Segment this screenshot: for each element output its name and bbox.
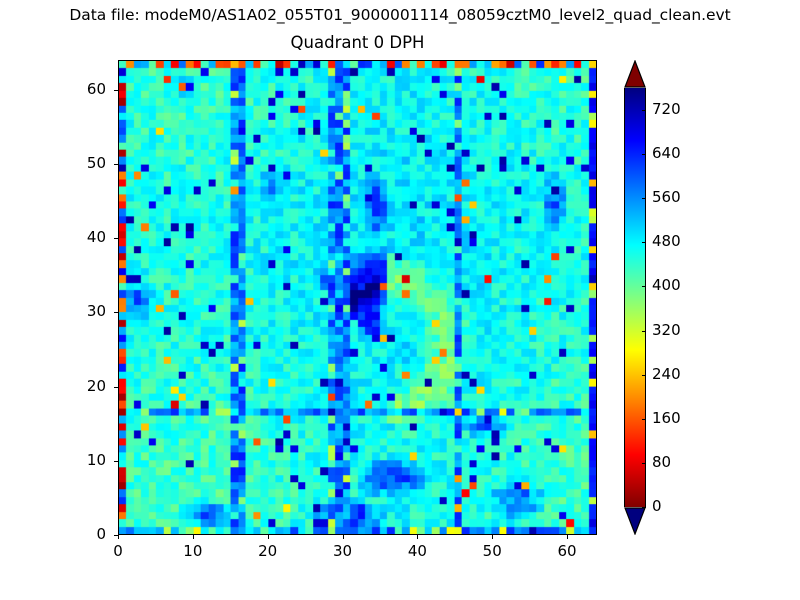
y-tick-label: 30 xyxy=(46,302,106,320)
colorbar-extend-top-arrow-icon xyxy=(624,60,646,88)
y-tick-mark xyxy=(114,90,118,91)
colorbar-tick-mark xyxy=(642,242,646,243)
figure-canvas: Data file: modeM0/AS1A02_055T01_90000011… xyxy=(0,0,800,600)
axes-title: Quadrant 0 DPH xyxy=(118,33,597,52)
y-tick-label: 0 xyxy=(46,525,106,543)
colorbar-tick-label: 320 xyxy=(652,321,681,339)
colorbar-tick-mark xyxy=(642,375,646,376)
y-tick-mark xyxy=(114,312,118,313)
x-tick-label: 40 xyxy=(387,542,447,560)
colorbar-tick-label: 480 xyxy=(652,232,681,250)
colorbar-tick-mark xyxy=(642,419,646,420)
y-tick-label: 40 xyxy=(46,228,106,246)
x-tick-label: 60 xyxy=(537,542,597,560)
colorbar-tick-label: 400 xyxy=(652,276,681,294)
figure-suptitle: Data file: modeM0/AS1A02_055T01_90000011… xyxy=(0,6,800,24)
heatmap-axes xyxy=(118,60,597,535)
colorbar-tick-label: 80 xyxy=(652,453,671,471)
y-tick-label: 50 xyxy=(46,154,106,172)
colorbar-tick-label: 160 xyxy=(652,409,681,427)
colorbar-tick-mark xyxy=(642,463,646,464)
x-tick-label: 0 xyxy=(88,542,148,560)
x-tick-mark xyxy=(417,535,418,539)
x-tick-mark xyxy=(492,535,493,539)
y-tick-mark xyxy=(114,164,118,165)
colorbar-gradient xyxy=(625,88,645,507)
colorbar-tick-mark xyxy=(642,198,646,199)
colorbar-tick-mark xyxy=(642,507,646,508)
colorbar-tick-mark xyxy=(642,331,646,332)
y-tick-label: 10 xyxy=(46,451,106,469)
y-tick-mark xyxy=(114,387,118,388)
x-tick-label: 30 xyxy=(313,542,373,560)
heatmap-image xyxy=(119,61,596,534)
colorbar-gradient-body xyxy=(624,88,646,507)
y-tick-mark xyxy=(114,535,118,536)
y-tick-label: 20 xyxy=(46,377,106,395)
colorbar-tick-mark xyxy=(642,286,646,287)
colorbar: 080160240320400480560640720 xyxy=(624,60,646,535)
colorbar-tick-label: 240 xyxy=(652,365,681,383)
colorbar-tick-label: 720 xyxy=(652,100,681,118)
x-tick-mark xyxy=(193,535,194,539)
x-tick-label: 20 xyxy=(238,542,298,560)
colorbar-tick-label: 640 xyxy=(652,144,681,162)
x-tick-mark xyxy=(268,535,269,539)
x-tick-label: 10 xyxy=(163,542,223,560)
colorbar-tick-mark xyxy=(642,154,646,155)
colorbar-tick-label: 560 xyxy=(652,188,681,206)
y-tick-mark xyxy=(114,461,118,462)
y-tick-label: 60 xyxy=(46,80,106,98)
y-tick-mark xyxy=(114,238,118,239)
colorbar-extend-bottom-arrow-icon xyxy=(624,507,646,535)
x-tick-mark xyxy=(343,535,344,539)
x-tick-label: 50 xyxy=(462,542,522,560)
x-tick-mark xyxy=(118,535,119,539)
x-tick-mark xyxy=(567,535,568,539)
colorbar-tick-mark xyxy=(642,110,646,111)
colorbar-tick-label: 0 xyxy=(652,497,662,515)
